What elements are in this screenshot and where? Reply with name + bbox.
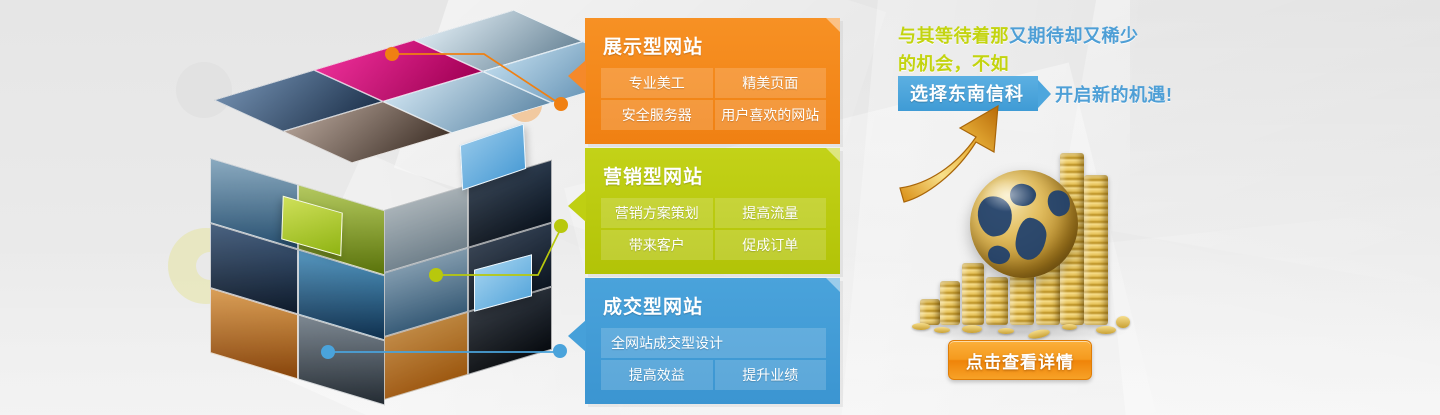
card-row: 安全服务器 用户喜欢的网站 (601, 100, 826, 130)
card-conversion-website[interactable]: 成交型网站 全网站成交型设计 提高效益 提升业绩 (585, 278, 840, 404)
headline-part-blue: 又期待却又稀少 (1009, 26, 1139, 46)
card-showcase-website[interactable]: 展示型网站 专业美工 精美页面 安全服务器 用户喜欢的网站 (585, 18, 840, 144)
continent (1014, 217, 1048, 262)
coin-stack (1084, 175, 1108, 325)
card-cell: 全网站成交型设计 (601, 328, 826, 358)
coin (1096, 326, 1116, 334)
card-title: 成交型网站 (603, 292, 826, 319)
card-row: 营销方案策划 提高流量 (601, 198, 826, 228)
globe-highlight (982, 178, 1034, 212)
card-cell: 安全服务器 (601, 100, 713, 130)
card-fold-corner (826, 148, 840, 162)
card-fold-corner (826, 278, 840, 292)
card-cells: 专业美工 精美页面 安全服务器 用户喜欢的网站 (601, 68, 826, 130)
card-fold-corner (826, 18, 840, 32)
card-title: 营销型网站 (603, 162, 826, 189)
card-tail (568, 320, 586, 352)
coin (934, 327, 950, 333)
card-row: 专业美工 精美页面 (601, 68, 826, 98)
card-title: 展示型网站 (603, 32, 826, 59)
globe-coins-illustration (900, 108, 1135, 343)
golden-globe-icon (970, 170, 1078, 278)
card-cell: 营销方案策划 (601, 198, 713, 228)
card-tail (568, 190, 586, 222)
coin (912, 323, 930, 330)
card-cell: 提高效益 (601, 360, 713, 390)
promo-headline: 与其等待着那又期待却又稀少 的机会，不如 (898, 22, 1173, 78)
card-cell: 提高流量 (715, 198, 827, 228)
headline-part-green2: 的机会，不如 (898, 54, 1009, 74)
card-cell: 精美页面 (715, 68, 827, 98)
headline-part-green: 与其等待着那 (898, 26, 1009, 46)
view-details-button[interactable]: 点击查看详情 (948, 340, 1092, 380)
scattered-coins (910, 311, 1128, 337)
coin (962, 325, 982, 333)
card-row: 全网站成交型设计 (601, 328, 826, 358)
coin (1116, 316, 1130, 328)
arrow-right-icon (1038, 80, 1051, 108)
card-cells: 全网站成交型设计 提高效益 提升业绩 (601, 328, 826, 390)
card-cell: 带来客户 (601, 230, 713, 260)
card-marketing-website[interactable]: 营销型网站 营销方案策划 提高流量 带来客户 促成订单 (585, 148, 840, 274)
card-cell: 促成订单 (715, 230, 827, 260)
coin (998, 328, 1014, 334)
card-cells: 营销方案策划 提高流量 带来客户 促成订单 (601, 198, 826, 260)
card-row: 带来客户 促成订单 (601, 230, 826, 260)
banner-stage: 展示型网站 专业美工 精美页面 安全服务器 用户喜欢的网站 营销型网站 营销方案… (0, 0, 1440, 415)
card-cell: 用户喜欢的网站 (715, 100, 827, 130)
card-row: 提高效益 提升业绩 (601, 360, 826, 390)
card-cell: 专业美工 (601, 68, 713, 98)
headline-tail: 开启新的机遇! (1055, 81, 1173, 107)
continent (986, 244, 1012, 267)
card-tail (568, 60, 586, 92)
coin (1062, 324, 1077, 330)
card-cell: 提升业绩 (715, 360, 827, 390)
